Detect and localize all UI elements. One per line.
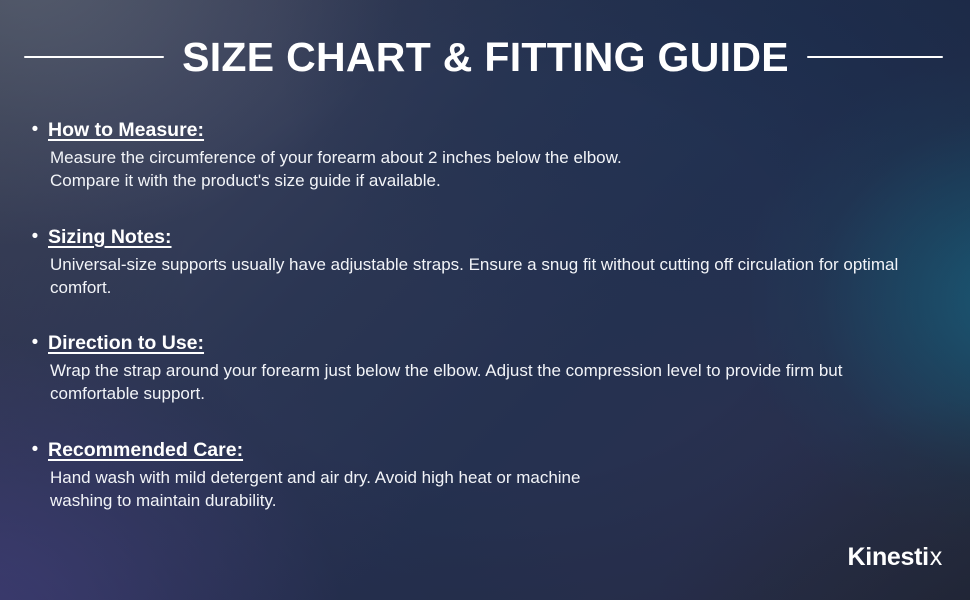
section-title: Sizing Notes: [48, 225, 172, 249]
guide-section-list: • How to Measure: Measure the circumfere… [30, 118, 930, 513]
section-title: Direction to Use: [48, 331, 204, 355]
bullet-point-icon: • [30, 227, 40, 246]
bullet-point-icon: • [30, 440, 40, 459]
bullet-point-icon: • [30, 333, 40, 352]
section-body-text: Universal-size supports usually have adj… [30, 254, 910, 300]
section-heading: • Recommended Care: [30, 438, 930, 462]
guide-section-direction-to-use: • Direction to Use: Wrap the strap aroun… [30, 331, 930, 406]
title-rule-left-decoration [24, 56, 164, 58]
page-title-row: SIZE CHART & FITTING GUIDE [0, 28, 970, 86]
guide-section-sizing-notes: • Sizing Notes: Universal-size supports … [30, 225, 930, 300]
title-rule-right-decoration [807, 56, 943, 58]
section-title: Recommended Care: [48, 438, 243, 462]
section-body-text: Wrap the strap around your forearm just … [30, 360, 910, 406]
section-heading: • How to Measure: [30, 118, 930, 142]
section-heading: • Sizing Notes: [30, 225, 930, 249]
bullet-point-icon: • [30, 120, 40, 139]
section-heading: • Direction to Use: [30, 331, 930, 355]
size-chart-banner: SIZE CHART & FITTING GUIDE • How to Meas… [0, 0, 970, 600]
section-body-text: Hand wash with mild detergent and air dr… [30, 467, 910, 513]
brand-x-mark: x [930, 545, 942, 570]
section-body-text: Measure the circumference of your forear… [30, 147, 910, 193]
guide-section-how-to-measure: • How to Measure: Measure the circumfere… [30, 118, 930, 193]
brand-name-text: Kinesti [848, 545, 929, 570]
section-title: How to Measure: [48, 118, 204, 142]
banner-content: SIZE CHART & FITTING GUIDE • How to Meas… [0, 0, 970, 600]
guide-section-recommended-care: • Recommended Care: Hand wash with mild … [30, 438, 930, 513]
page-title: SIZE CHART & FITTING GUIDE [182, 37, 789, 78]
brand-logo: Kinesti x [848, 545, 942, 570]
